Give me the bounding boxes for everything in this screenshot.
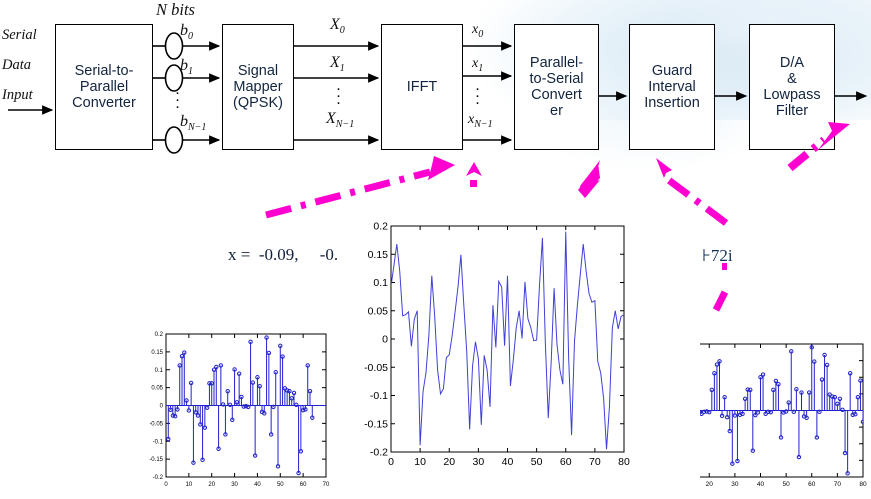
pointer-arrow-6 — [716, 263, 730, 310]
x-tick-label: 40 — [502, 456, 514, 468]
x-tick-label: 80 — [618, 456, 630, 468]
x-tick-label: 0 — [388, 456, 394, 468]
pointer-arrow-3 — [578, 160, 600, 198]
x-tick-label: 50 — [531, 456, 543, 468]
y-tick-label: 0.15 — [368, 249, 389, 261]
y-tick-label: 0.1 — [155, 368, 164, 374]
pointer-arrow-1 — [266, 156, 455, 215]
y-tick-label: 0.05 — [151, 386, 163, 392]
y-tick-label: 0.2 — [155, 332, 164, 338]
pointer-arrow-4 — [656, 158, 726, 223]
x-tick-label: 80 — [859, 481, 867, 488]
chart-line-center: 01020304050607080-0.2-0.15-0.1-0.0500.05… — [358, 218, 630, 476]
x-tick-label: 20 — [443, 456, 455, 468]
plot-stem-right-svg: 01020304050607080 — [700, 330, 871, 499]
x-tick-label: 70 — [323, 482, 330, 488]
y-tick-label: -0.2 — [153, 475, 164, 481]
x-tick-label: 40 — [254, 482, 261, 488]
x-tick-label: 40 — [757, 481, 765, 488]
x-tick-label: 50 — [277, 482, 284, 488]
x-tick-label: 30 — [473, 456, 485, 468]
chart-stem-right: 01020304050607080 — [700, 330, 871, 499]
switch-oval-2 — [166, 127, 183, 153]
y-tick-label: -0.05 — [364, 362, 388, 374]
plot-frame — [391, 226, 624, 452]
plot-stem-left-svg: 010203040506070-0.2-0.15-0.1-0.0500.050.… — [140, 326, 360, 499]
x-tick-label: 30 — [231, 482, 238, 488]
x-tick-label: 70 — [834, 481, 842, 488]
pointer-arrow-5 — [790, 122, 850, 168]
y-tick-label: -0.1 — [153, 439, 164, 445]
x-tick-label: 60 — [300, 482, 307, 488]
diagram-canvas: N bits Serial Data Input Serial-to- Para… — [0, 0, 871, 499]
y-tick-label: 0.05 — [368, 305, 389, 317]
y-tick-label: 0.15 — [151, 350, 163, 356]
y-tick-label: -0.05 — [149, 421, 163, 427]
switch-oval-1 — [166, 65, 183, 91]
x-tick-label: 10 — [186, 482, 193, 488]
y-tick-label: -0.15 — [364, 418, 388, 430]
y-tick-label: -0.15 — [149, 457, 163, 463]
x-tick-label: 60 — [560, 456, 572, 468]
x-tick-label: 20 — [706, 481, 714, 488]
x-tick-label: 10 — [414, 456, 426, 468]
y-tick-label: -0.1 — [370, 390, 388, 402]
chart-stem-right-clip: 01020304050607080 — [700, 330, 871, 499]
y-tick-label: 0.2 — [373, 221, 388, 233]
y-tick-label: 0 — [382, 334, 388, 346]
x-tick-label: 60 — [808, 481, 816, 488]
x-tick-label: 30 — [731, 481, 739, 488]
plot-line-center-svg: 01020304050607080-0.2-0.15-0.1-0.0500.05… — [358, 218, 630, 476]
left-equation-annotation: x = -0.09, -0. — [228, 245, 338, 265]
chart-stem-left: 010203040506070-0.2-0.15-0.1-0.0500.050.… — [140, 326, 360, 499]
switch-oval-0 — [166, 33, 183, 59]
x-tick-label: 70 — [589, 456, 601, 468]
y-tick-label: -0.2 — [370, 447, 388, 459]
right-equation-annotation: ⊦72i — [702, 246, 733, 266]
x-tick-label: 20 — [208, 482, 215, 488]
x-tick-label: 0 — [164, 482, 168, 488]
y-tick-label: 0 — [160, 404, 164, 410]
pointer-arrow-2 — [466, 162, 482, 187]
x-tick-label: 50 — [783, 481, 791, 488]
y-tick-label: 0.1 — [373, 277, 388, 289]
